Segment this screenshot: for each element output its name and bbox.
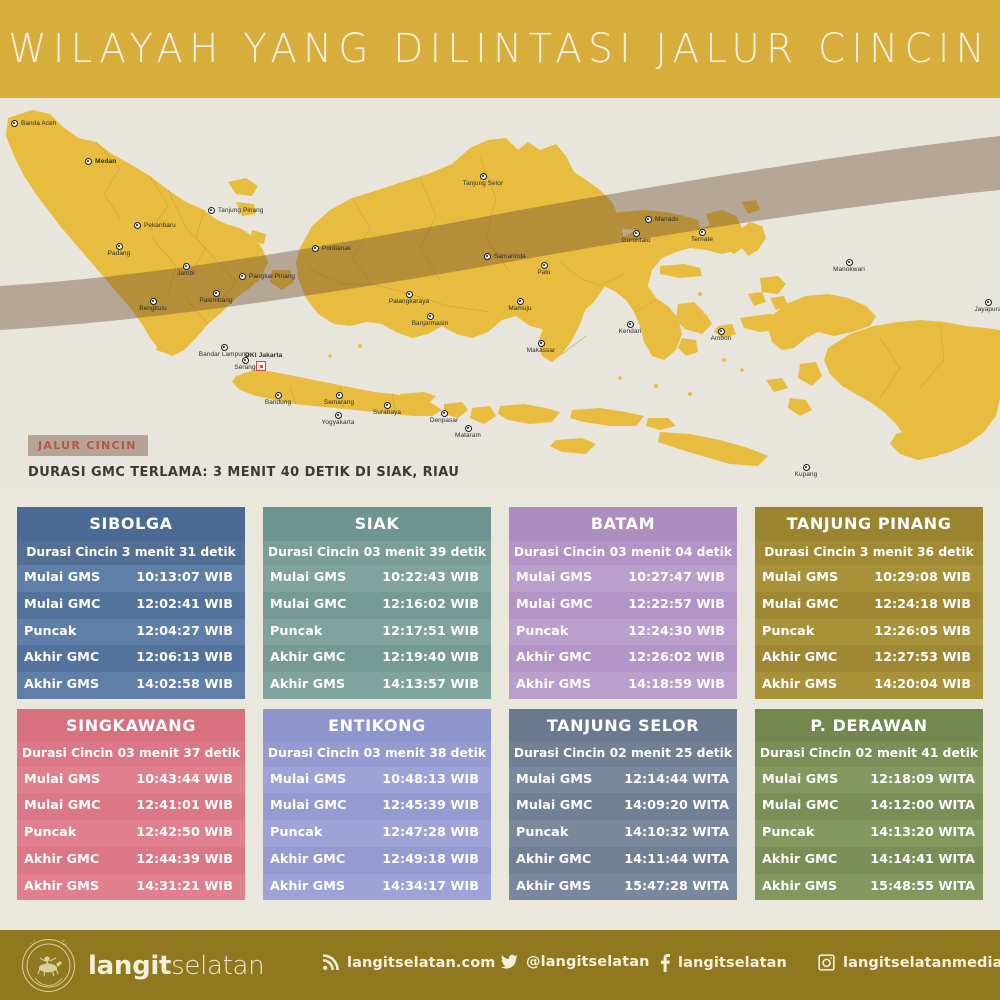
card-row: Puncak14:10:32 WITA xyxy=(509,820,737,847)
card-row: Mulai GMS10:13:07 WIB xyxy=(17,565,245,592)
landmass-alor xyxy=(646,418,676,430)
islet xyxy=(492,292,495,295)
capital-marker xyxy=(256,361,266,371)
row-value: 15:48:55 WITA xyxy=(862,874,983,901)
city-marker xyxy=(718,328,725,335)
islet xyxy=(328,354,331,357)
card-row: Mulai GMC12:02:41 WIB xyxy=(17,592,245,619)
brand-wordmark: langitselatan xyxy=(88,953,264,979)
city-label: Palu xyxy=(537,269,550,276)
row-value: 15:47:28 WITA xyxy=(616,874,737,901)
seal-graphic: LANGITSELATAN xyxy=(23,940,74,991)
card-row: Mulai GMC12:22:57 WIB xyxy=(509,592,737,619)
row-value: 14:31:21 WIB xyxy=(124,874,245,901)
city-marker xyxy=(150,298,157,305)
islet xyxy=(654,384,658,388)
brand-light: selatan xyxy=(171,951,264,981)
islet xyxy=(546,278,550,282)
city-label: Bandung xyxy=(265,399,291,406)
city-marker xyxy=(846,259,853,266)
row-label: Mulai GMC xyxy=(755,592,862,619)
row-label: Mulai GMS xyxy=(263,767,370,794)
city-label: Yogyakarta xyxy=(322,419,355,426)
row-value: 14:20:04 WIB xyxy=(862,672,983,699)
row-label: Akhir GMC xyxy=(755,847,862,874)
city-marker xyxy=(480,173,487,180)
row-label: Puncak xyxy=(755,619,862,646)
city-label: Jayapura xyxy=(974,306,1000,313)
seal-text: LANGITSELATAN xyxy=(23,940,67,947)
row-value: 12:16:02 WIB xyxy=(370,592,491,619)
row-label: Mulai GMS xyxy=(755,565,862,592)
card-row: Akhir GMS15:47:28 WITA xyxy=(509,874,737,901)
city-label: Manado xyxy=(655,216,679,223)
row-label: Mulai GMC xyxy=(17,793,124,820)
card-duration: Durasi Cincin 02 menit 25 detik xyxy=(509,742,737,767)
city-label: Banjarmasin xyxy=(412,320,449,327)
city-marker xyxy=(183,263,190,270)
card-duration: Durasi Cincin 03 menit 04 detik xyxy=(509,541,737,566)
landmass-lombok xyxy=(470,406,496,424)
landmass-buton xyxy=(678,338,698,356)
card-row: Mulai GMC14:12:00 WITA xyxy=(755,793,983,820)
city-label: Pontianak xyxy=(322,245,351,252)
row-value: 12:19:40 WIB xyxy=(370,645,491,672)
card-row: Mulai GMS10:29:08 WIB xyxy=(755,565,983,592)
city-label: Kendari xyxy=(619,328,642,335)
city-marker xyxy=(538,340,545,347)
row-value: 12:41:01 WIB xyxy=(124,793,245,820)
city-label: Ambon xyxy=(711,335,732,342)
islet xyxy=(688,392,692,396)
landmass-kei xyxy=(766,378,788,392)
svg-text:LANGITSELATAN: LANGITSELATAN xyxy=(23,940,67,947)
landmass-aru xyxy=(798,362,822,386)
row-value: 14:09:20 WITA xyxy=(616,793,737,820)
city-label: Bengkulu xyxy=(139,305,166,312)
city-label: Samarinda xyxy=(494,253,526,260)
card-row: Akhir GMS14:20:04 WIB xyxy=(755,672,983,699)
city-marker xyxy=(312,245,319,252)
city-label: Denpasar xyxy=(430,417,459,424)
row-label: Mulai GMC xyxy=(17,592,124,619)
row-label: Puncak xyxy=(17,820,124,847)
card-duration: Durasi Cincin 03 menit 37 detik xyxy=(17,742,245,767)
city-marker xyxy=(85,158,92,165)
row-value: 10:27:47 WIB xyxy=(616,565,737,592)
row-label: Mulai GMC xyxy=(509,592,616,619)
row-value: 12:02:41 WIB xyxy=(124,592,245,619)
city-label: Jambi xyxy=(177,270,195,277)
row-label: Akhir GMS xyxy=(263,672,370,699)
card-row: Akhir GMC12:26:02 WIB xyxy=(509,645,737,672)
card-row: Akhir GMS14:18:59 WIB xyxy=(509,672,737,699)
city-marker xyxy=(208,207,215,214)
row-label: Mulai GMC xyxy=(263,793,370,820)
city-label: Padang xyxy=(108,250,131,257)
row-value: 12:49:18 WIB xyxy=(370,847,491,874)
row-value: 12:22:57 WIB xyxy=(616,592,737,619)
islet xyxy=(618,376,622,380)
row-label: Akhir GMS xyxy=(263,874,370,901)
row-value: 12:47:28 WIB xyxy=(370,820,491,847)
map-caption: DURASI GMC TERLAMA: 3 MENIT 40 DETIK DI … xyxy=(28,464,459,480)
islet xyxy=(754,292,757,295)
twitter-label: @langitselatan xyxy=(526,954,650,970)
card-row: Akhir GMC12:44:39 WIB xyxy=(17,847,245,874)
card-row: Mulai GMC12:41:01 WIB xyxy=(17,793,245,820)
row-label: Puncak xyxy=(263,820,370,847)
row-label: Puncak xyxy=(509,820,616,847)
city-label: Palangkaraya xyxy=(389,298,429,305)
card-title: TANJUNG SELOR xyxy=(509,709,737,743)
card-row: Akhir GMS14:31:21 WIB xyxy=(17,874,245,901)
card-title: BATAM xyxy=(509,507,737,541)
card-row: Akhir GMS14:02:58 WIB xyxy=(17,672,245,699)
city-marker xyxy=(699,229,706,236)
facebook-label: langitselatan xyxy=(678,955,787,971)
row-label: Mulai GMC xyxy=(263,592,370,619)
card-row: Mulai GMC12:16:02 WIB xyxy=(263,592,491,619)
instagram-label: langitselatanmedia xyxy=(843,955,1000,971)
city-label: Banda Aceh xyxy=(21,120,56,127)
row-value: 14:18:59 WIB xyxy=(616,672,737,699)
page-footer: LANGITSELATAN langitselatan langitselata… xyxy=(0,930,1000,1000)
city-marker xyxy=(645,216,652,223)
city-marker xyxy=(239,273,246,280)
city-marker xyxy=(275,392,282,399)
row-label: Puncak xyxy=(509,619,616,646)
city-marker xyxy=(465,425,472,432)
city-label: Medan xyxy=(95,158,116,165)
city-marker xyxy=(335,412,342,419)
row-label: Akhir GMC xyxy=(263,645,370,672)
city-marker xyxy=(627,321,634,328)
city-card: SIBOLGADurasi Cincin 3 menit 31 detikMul… xyxy=(17,507,245,699)
row-value: 14:11:44 WITA xyxy=(616,847,737,874)
row-value: 12:06:13 WIB xyxy=(124,645,245,672)
row-value: 14:10:32 WITA xyxy=(616,820,737,847)
row-label: Akhir GMS xyxy=(755,874,862,901)
row-value: 12:42:50 WIB xyxy=(124,820,245,847)
row-label: Akhir GMS xyxy=(17,874,124,901)
city-marker xyxy=(11,120,18,127)
instagram-icon xyxy=(818,954,835,971)
city-marker xyxy=(484,253,491,260)
row-label: Akhir GMS xyxy=(509,874,616,901)
row-value: 12:26:02 WIB xyxy=(616,645,737,672)
card-row: Mulai GMS10:27:47 WIB xyxy=(509,565,737,592)
card-title: SINGKAWANG xyxy=(17,709,245,743)
landmass-sumba xyxy=(550,438,596,454)
row-label: Mulai GMS xyxy=(17,767,124,794)
row-value: 12:27:53 WIB xyxy=(862,645,983,672)
islet xyxy=(740,368,744,372)
city-label: Ternate xyxy=(691,236,713,243)
row-label: Mulai GMC xyxy=(509,793,616,820)
city-marker xyxy=(221,344,228,351)
city-marker xyxy=(441,410,448,417)
langitselatan-seal-icon: LANGITSELATAN xyxy=(22,939,75,992)
row-label: Akhir GMC xyxy=(17,645,124,672)
card-row: Puncak12:42:50 WIB xyxy=(17,820,245,847)
landmass-madura xyxy=(400,392,436,404)
facebook-icon xyxy=(660,954,670,972)
row-label: Mulai GMS xyxy=(17,565,124,592)
footer-twitter-link[interactable]: @langitselatan xyxy=(500,954,650,970)
row-label: Puncak xyxy=(17,619,124,646)
city-label: Mataram xyxy=(455,432,481,439)
city-marker xyxy=(803,464,810,471)
city-marker xyxy=(242,357,249,364)
city-label: Surabaya xyxy=(373,409,401,416)
city-card: TANJUNG PINANGDurasi Cincin 3 menit 36 d… xyxy=(755,507,983,699)
row-value: 14:13:57 WIB xyxy=(370,672,491,699)
landmass-buru xyxy=(688,314,712,334)
city-label: Tanjung Selor xyxy=(463,180,503,187)
card-row: Mulai GMS10:22:43 WIB xyxy=(263,565,491,592)
row-label: Mulai GMS xyxy=(509,767,616,794)
card-row: Mulai GMS10:48:13 WIB xyxy=(263,767,491,794)
card-row: Puncak12:24:30 WIB xyxy=(509,619,737,646)
landmass-bali xyxy=(444,402,468,418)
card-row: Akhir GMS15:48:55 WITA xyxy=(755,874,983,901)
card-title: SIAK xyxy=(263,507,491,541)
city-marker xyxy=(633,230,640,237)
row-label: Puncak xyxy=(263,619,370,646)
row-value: 12:04:27 WIB xyxy=(124,619,245,646)
city-label: Pangkal Pinang xyxy=(249,273,295,280)
city-marker xyxy=(517,298,524,305)
card-row: Puncak12:47:28 WIB xyxy=(263,820,491,847)
card-row: Mulai GMS12:14:44 WITA xyxy=(509,767,737,794)
row-value: 10:43:44 WIB xyxy=(124,767,245,794)
islet xyxy=(722,358,726,362)
card-title: ENTIKONG xyxy=(263,709,491,743)
row-value: 10:29:08 WIB xyxy=(862,565,983,592)
landmass-sula xyxy=(660,264,702,278)
city-marker xyxy=(427,313,434,320)
brand-logo: LANGITSELATAN langitselatan xyxy=(22,939,264,992)
row-value: 12:45:39 WIB xyxy=(370,793,491,820)
legend-jalur-cincin: JALUR CINCIN xyxy=(28,435,148,456)
city-marker xyxy=(541,262,548,269)
page-header: WILAYAH YANG DILINTASI JALUR CINCIN xyxy=(0,0,1000,98)
row-value: 14:12:00 WITA xyxy=(862,793,983,820)
row-label: Mulai GMS xyxy=(509,565,616,592)
card-row: Akhir GMC14:11:44 WITA xyxy=(509,847,737,874)
city-label: Pekanbaru xyxy=(144,222,176,229)
row-value: 12:44:39 WIB xyxy=(124,847,245,874)
card-duration: Durasi Cincin 3 menit 31 detik xyxy=(17,541,245,566)
card-row: Puncak12:04:27 WIB xyxy=(17,619,245,646)
row-value: 14:13:20 WITA xyxy=(862,820,983,847)
landmass-tanimbar xyxy=(788,398,812,416)
rss-icon xyxy=(322,954,339,971)
islet xyxy=(358,344,362,348)
card-row: Akhir GMC12:49:18 WIB xyxy=(263,847,491,874)
twitter-icon xyxy=(500,954,518,970)
landmass-sumbawa xyxy=(498,404,560,424)
row-label: Akhir GMC xyxy=(755,645,862,672)
islet xyxy=(698,292,702,296)
row-value: 14:14:41 WITA xyxy=(862,847,983,874)
website-label: langitselatan.com xyxy=(347,955,496,971)
city-label: Palembang xyxy=(199,297,232,304)
landmass-obi xyxy=(760,276,786,294)
row-value: 12:24:30 WIB xyxy=(616,619,737,646)
city-label: Bandar Lampung xyxy=(199,351,249,358)
card-duration: Durasi Cincin 02 menit 41 detik xyxy=(755,742,983,767)
card-row: Akhir GMC12:06:13 WIB xyxy=(17,645,245,672)
row-value: 12:24:18 WIB xyxy=(862,592,983,619)
card-row: Puncak12:26:05 WIB xyxy=(755,619,983,646)
row-value: 12:18:09 WITA xyxy=(862,767,983,794)
city-marker xyxy=(384,402,391,409)
card-title: TANJUNG PINANG xyxy=(755,507,983,541)
card-row: Akhir GMC14:14:41 WITA xyxy=(755,847,983,874)
city-marker xyxy=(213,290,220,297)
card-row: Akhir GMS14:13:57 WIB xyxy=(263,672,491,699)
row-value: 14:34:17 WIB xyxy=(370,874,491,901)
city-label: Serang xyxy=(234,364,255,371)
card-row: Mulai GMC12:24:18 WIB xyxy=(755,592,983,619)
row-label: Mulai GMS xyxy=(263,565,370,592)
row-value: 12:17:51 WIB xyxy=(370,619,491,646)
rider-figure-icon xyxy=(38,956,62,976)
city-card: SINGKAWANGDurasi Cincin 03 menit 37 deti… xyxy=(17,709,245,901)
row-value: 10:13:07 WIB xyxy=(124,565,245,592)
card-title: P. DERAWAN xyxy=(755,709,983,743)
card-row: Akhir GMS14:34:17 WIB xyxy=(263,874,491,901)
city-label: Tanjung Pinang xyxy=(218,207,263,214)
landmass-flores xyxy=(570,408,644,426)
landmass-lingga xyxy=(250,230,266,244)
footer-facebook-link[interactable]: langitselatan xyxy=(660,954,787,972)
row-label: Akhir GMC xyxy=(509,645,616,672)
city-card: ENTIKONGDurasi Cincin 03 menit 38 detikM… xyxy=(263,709,491,901)
card-duration: Durasi Cincin 3 menit 36 detik xyxy=(755,541,983,566)
map-graphic xyxy=(0,98,1000,488)
card-row: Mulai GMS10:43:44 WIB xyxy=(17,767,245,794)
city-marker xyxy=(116,243,123,250)
city-marker xyxy=(134,222,141,229)
city-label: Mamuju xyxy=(508,305,531,312)
row-label: Puncak xyxy=(755,820,862,847)
card-duration: Durasi Cincin 03 menit 39 detik xyxy=(263,541,491,566)
row-label: Akhir GMC xyxy=(263,847,370,874)
row-value: 12:14:44 WITA xyxy=(616,767,737,794)
card-row: Akhir GMC12:19:40 WIB xyxy=(263,645,491,672)
row-label: Akhir GMC xyxy=(509,847,616,874)
city-label: Makassar xyxy=(527,347,556,354)
city-card: TANJUNG SELORDurasi Cincin 02 menit 25 d… xyxy=(509,709,737,901)
city-label: Manokwari xyxy=(833,266,865,273)
card-row: Puncak12:17:51 WIB xyxy=(263,619,491,646)
row-label: Akhir GMS xyxy=(755,672,862,699)
card-row: Mulai GMC12:45:39 WIB xyxy=(263,793,491,820)
row-label: Akhir GMS xyxy=(509,672,616,699)
card-row: Puncak14:13:20 WITA xyxy=(755,820,983,847)
row-value: 10:22:43 WIB xyxy=(370,565,491,592)
city-card: SIAKDurasi Cincin 03 menit 39 detikMulai… xyxy=(263,507,491,699)
indonesia-eclipse-map: Banda AcehMedanTanjung PinangPekanbaruPa… xyxy=(0,98,1000,488)
city-label: Gorontalo xyxy=(622,237,651,244)
city-timing-cards: SIBOLGADurasi Cincin 3 menit 31 detikMul… xyxy=(17,507,983,900)
city-label: Semarang xyxy=(324,399,354,406)
city-marker xyxy=(336,392,343,399)
card-row: Mulai GMC14:09:20 WITA xyxy=(509,793,737,820)
row-value: 10:48:13 WIB xyxy=(370,767,491,794)
footer-website-link[interactable]: langitselatan.com xyxy=(322,954,496,971)
islet xyxy=(484,286,488,290)
card-row: Mulai GMS12:18:09 WITA xyxy=(755,767,983,794)
city-marker xyxy=(985,299,992,306)
landmass-riau-islands xyxy=(228,178,258,196)
row-label: Mulai GMS xyxy=(755,767,862,794)
row-label: Akhir GMC xyxy=(17,847,124,874)
city-label: DKI Jakarta xyxy=(245,352,282,359)
card-row: Akhir GMC12:27:53 WIB xyxy=(755,645,983,672)
city-card: P. DERAWANDurasi Cincin 02 menit 41 deti… xyxy=(755,709,983,901)
city-card: BATAMDurasi Cincin 03 menit 04 detikMula… xyxy=(509,507,737,699)
city-marker xyxy=(406,291,413,298)
city-label: Kupang xyxy=(795,471,818,478)
page-title: WILAYAH YANG DILINTASI JALUR CINCIN xyxy=(9,26,992,72)
row-value: 12:26:05 WIB xyxy=(862,619,983,646)
brand-bold: langit xyxy=(88,951,171,981)
footer-instagram-link[interactable]: langitselatanmedia xyxy=(818,954,1000,971)
row-value: 14:02:58 WIB xyxy=(124,672,245,699)
row-label: Akhir GMS xyxy=(17,672,124,699)
card-title: SIBOLGA xyxy=(17,507,245,541)
landmass-timor xyxy=(658,432,768,466)
card-duration: Durasi Cincin 03 menit 38 detik xyxy=(263,742,491,767)
row-label: Mulai GMC xyxy=(755,793,862,820)
